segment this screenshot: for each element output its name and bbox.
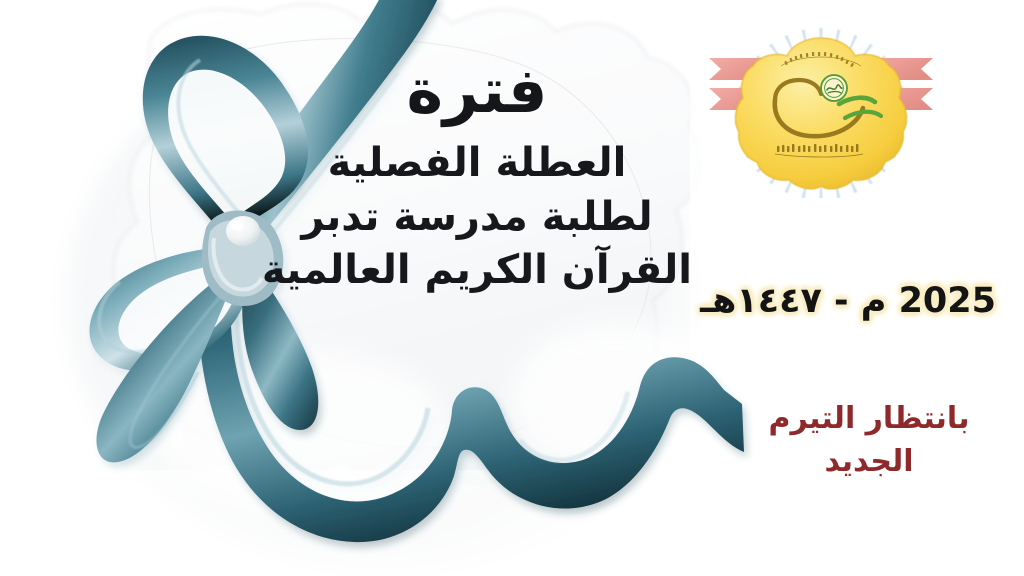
body-line-1: العطلة الفصلية (262, 137, 692, 191)
organization-logo (703, 22, 939, 198)
waiting-note: بانتظار التيرم الجديد (744, 398, 994, 483)
date-label: 2025 م - ١٤٤٧هـ (700, 281, 996, 321)
waiting-note-line-1: بانتظار التيرم (744, 398, 994, 441)
logo-artwork (703, 22, 939, 198)
poster-text-block: فترة العطلة الفصلية لطلبة مدرسة تدبر الق… (262, 58, 692, 298)
body-line-3: القرآن الكريم العالمية (262, 244, 692, 298)
body-line-2: لطلبة مدرسة تدبر (262, 191, 692, 245)
waiting-note-line-2: الجديد (744, 441, 994, 484)
page-title: فترة (262, 58, 692, 123)
poster-canvas: فترة العطلة الفصلية لطلبة مدرسة تدبر الق… (0, 0, 1024, 576)
